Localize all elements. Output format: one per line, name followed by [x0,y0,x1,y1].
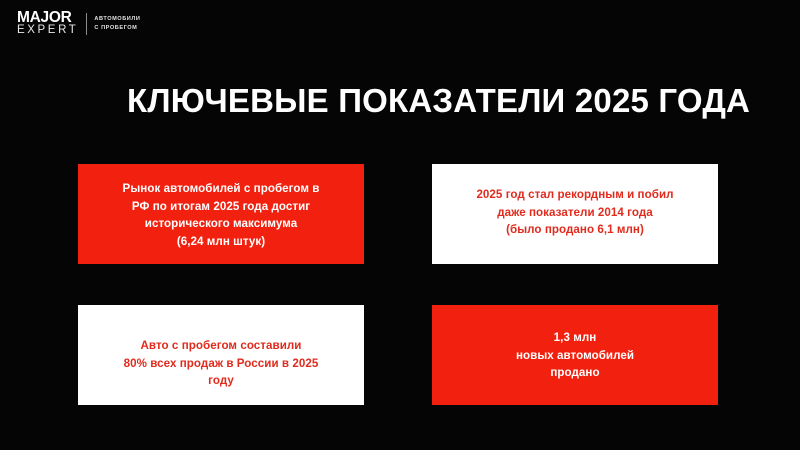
stat-card-text: 2025 год стал рекордным и побил даже пок… [476,164,673,239]
logo-word-expert: EXPERT [17,24,78,37]
stat-card-text: Авто с пробегом составили 80% всех прода… [124,305,319,390]
logo-divider [86,13,87,35]
page-title: КЛЮЧЕВЫЕ ПОКАЗАТЕЛИ 2025 ГОДА [127,82,750,120]
stat-card-text: Рынок автомобилей с пробегом в РФ по ито… [123,164,320,250]
stat-card-record-year: 2025 год стал рекордным и побил даже пок… [432,164,718,264]
logo-tagline-line-2: С ПРОБЕГОМ [94,24,140,34]
stat-cards-grid: Рынок автомобилей с пробегом в РФ по ито… [78,164,718,405]
logo-tagline-line-1: АВТОМОБИЛИ [94,15,140,25]
stat-card-used-share: Авто с пробегом составили 80% всех прода… [78,305,364,405]
logo-wordmark: MAJOR EXPERT [17,11,78,37]
stat-card-market-record: Рынок автомобилей с пробегом в РФ по ито… [78,164,364,264]
stat-card-new-cars-sold: 1,3 млн новых автомобилей продано [432,305,718,405]
presentation-slide: MAJOR EXPERT АВТОМОБИЛИ С ПРОБЕГОМ КЛЮЧЕ… [0,0,800,450]
brand-logo: MAJOR EXPERT АВТОМОБИЛИ С ПРОБЕГОМ [17,11,140,37]
logo-tagline: АВТОМОБИЛИ С ПРОБЕГОМ [94,15,140,34]
stat-card-text: 1,3 млн новых автомобилей продано [516,305,634,382]
logo-word-major: MAJOR [17,11,78,24]
